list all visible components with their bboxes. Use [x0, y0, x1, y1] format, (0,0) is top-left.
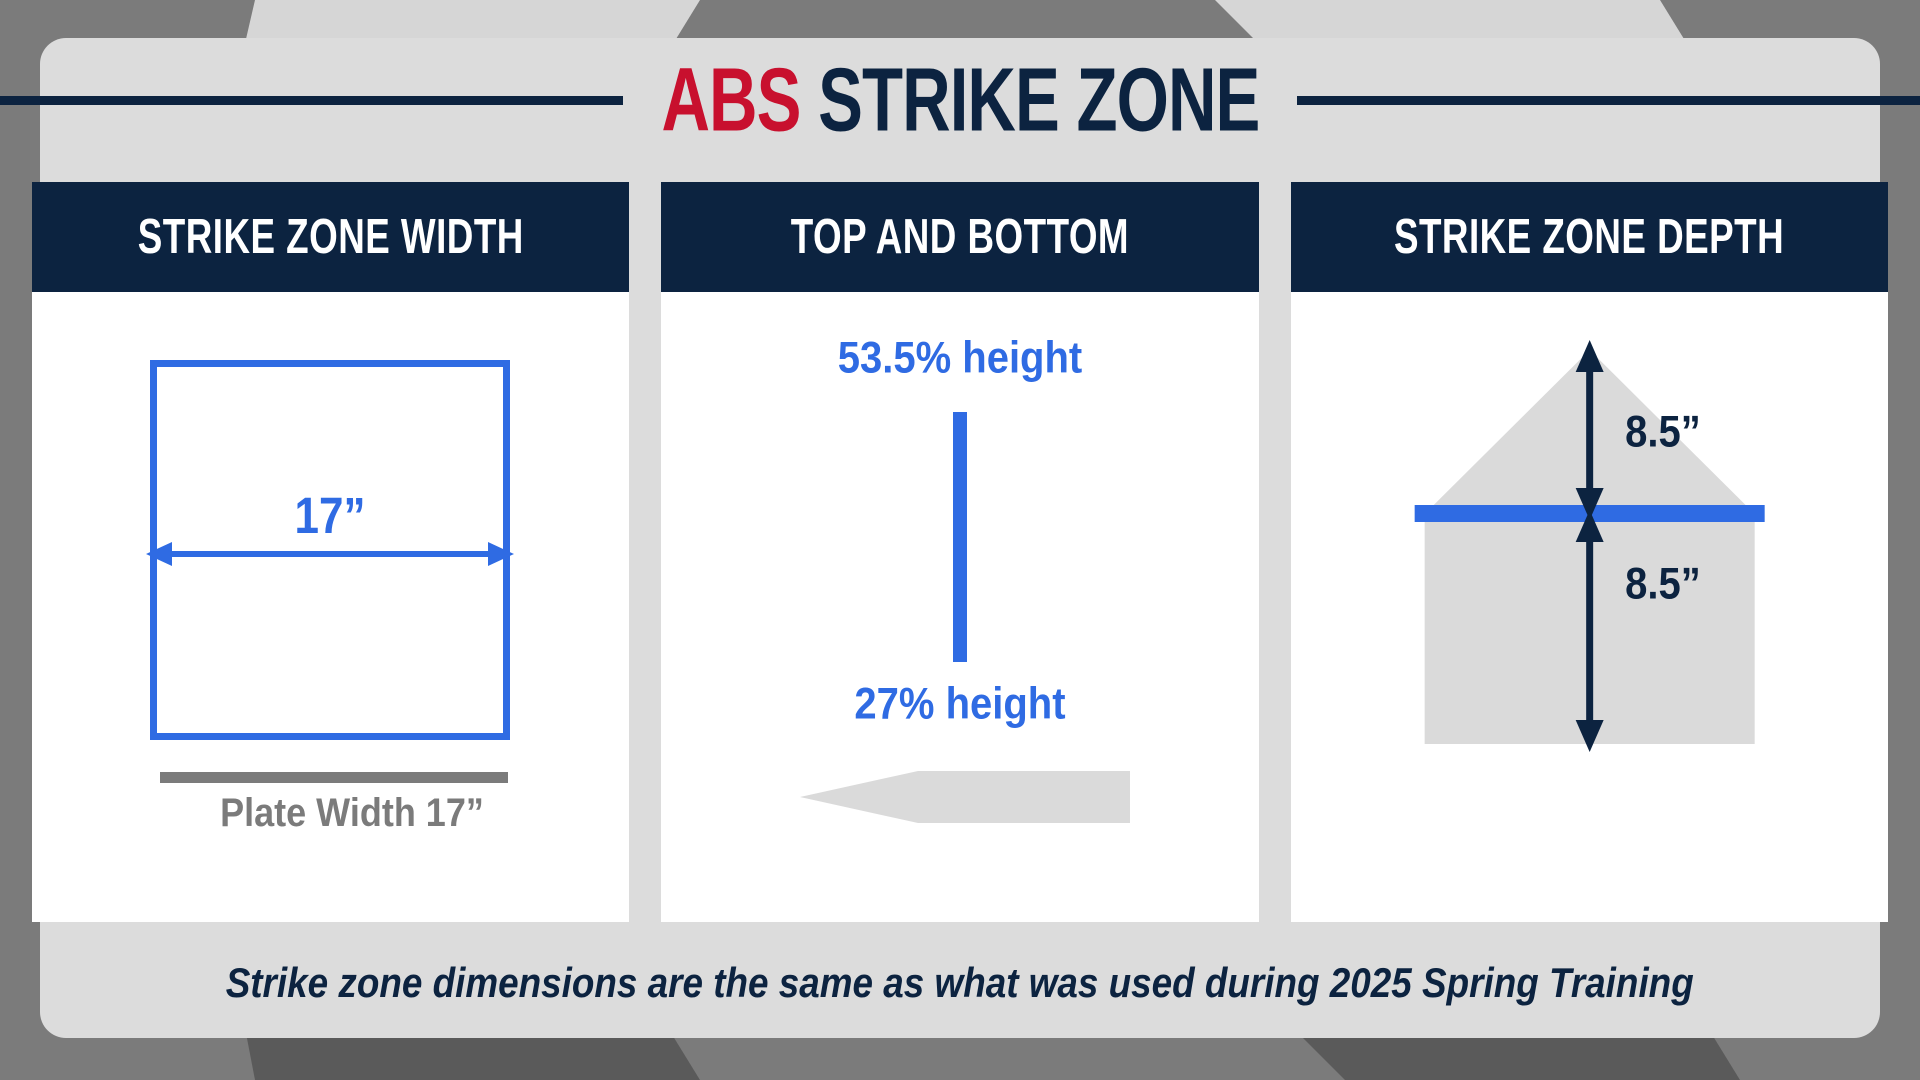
panel-header-top-and-bottom: TOP AND BOTTOM	[661, 182, 1258, 292]
width-double-arrow-icon	[142, 537, 518, 571]
strike-zone-bottom-value: 27% height	[661, 679, 1258, 729]
depth-upper-value: 8.5”	[1625, 407, 1701, 457]
strike-zone-top-value: 53.5% height	[661, 333, 1258, 383]
strike-zone-height-bar	[953, 412, 967, 662]
page-title: ABS STRIKE ZONE	[636, 55, 1284, 145]
panel-body-strike-zone-depth: 8.5” 8.5”	[1291, 292, 1888, 922]
panel-body-strike-zone-width: 17” Plate Width 17”	[32, 292, 629, 922]
title-rule-right	[1297, 96, 1920, 105]
panel-body-top-and-bottom: 53.5% height 27% height	[661, 292, 1258, 922]
depth-lower-value: 8.5”	[1625, 559, 1701, 609]
page-title-main: STRIKE ZONE	[800, 50, 1259, 150]
panel-header-strike-zone-depth: STRIKE ZONE DEPTH	[1291, 182, 1888, 292]
panel-title-strike-zone-width: STRIKE ZONE WIDTH	[138, 210, 524, 265]
panel-row: STRIKE ZONE WIDTH 17” Plate Width 17” TO…	[32, 182, 1888, 922]
plate-width-bar	[160, 772, 508, 783]
panel-strike-zone-width: STRIKE ZONE WIDTH 17” Plate Width 17”	[32, 182, 629, 922]
panel-header-strike-zone-width: STRIKE ZONE WIDTH	[32, 182, 629, 292]
home-plate-top-view-icon	[1291, 332, 1888, 762]
footer-note: Strike zone dimensions are the same as w…	[226, 960, 1694, 1007]
page-title-accent: ABS	[661, 50, 800, 150]
panel-title-strike-zone-depth: STRIKE ZONE DEPTH	[1394, 210, 1784, 265]
panel-top-and-bottom: TOP AND BOTTOM 53.5% height 27% height	[661, 182, 1258, 922]
panel-strike-zone-depth: STRIKE ZONE DEPTH 8.5” 8.5”	[1291, 182, 1888, 922]
footer-note-bar: Strike zone dimensions are the same as w…	[40, 930, 1880, 1038]
home-plate-side-view-icon	[800, 762, 1130, 832]
page-title-bar: ABS STRIKE ZONE	[0, 62, 1920, 138]
title-rule-left	[0, 96, 623, 105]
plate-width-caption: Plate Width 17”	[142, 790, 562, 836]
panel-title-top-and-bottom: TOP AND BOTTOM	[791, 210, 1129, 265]
